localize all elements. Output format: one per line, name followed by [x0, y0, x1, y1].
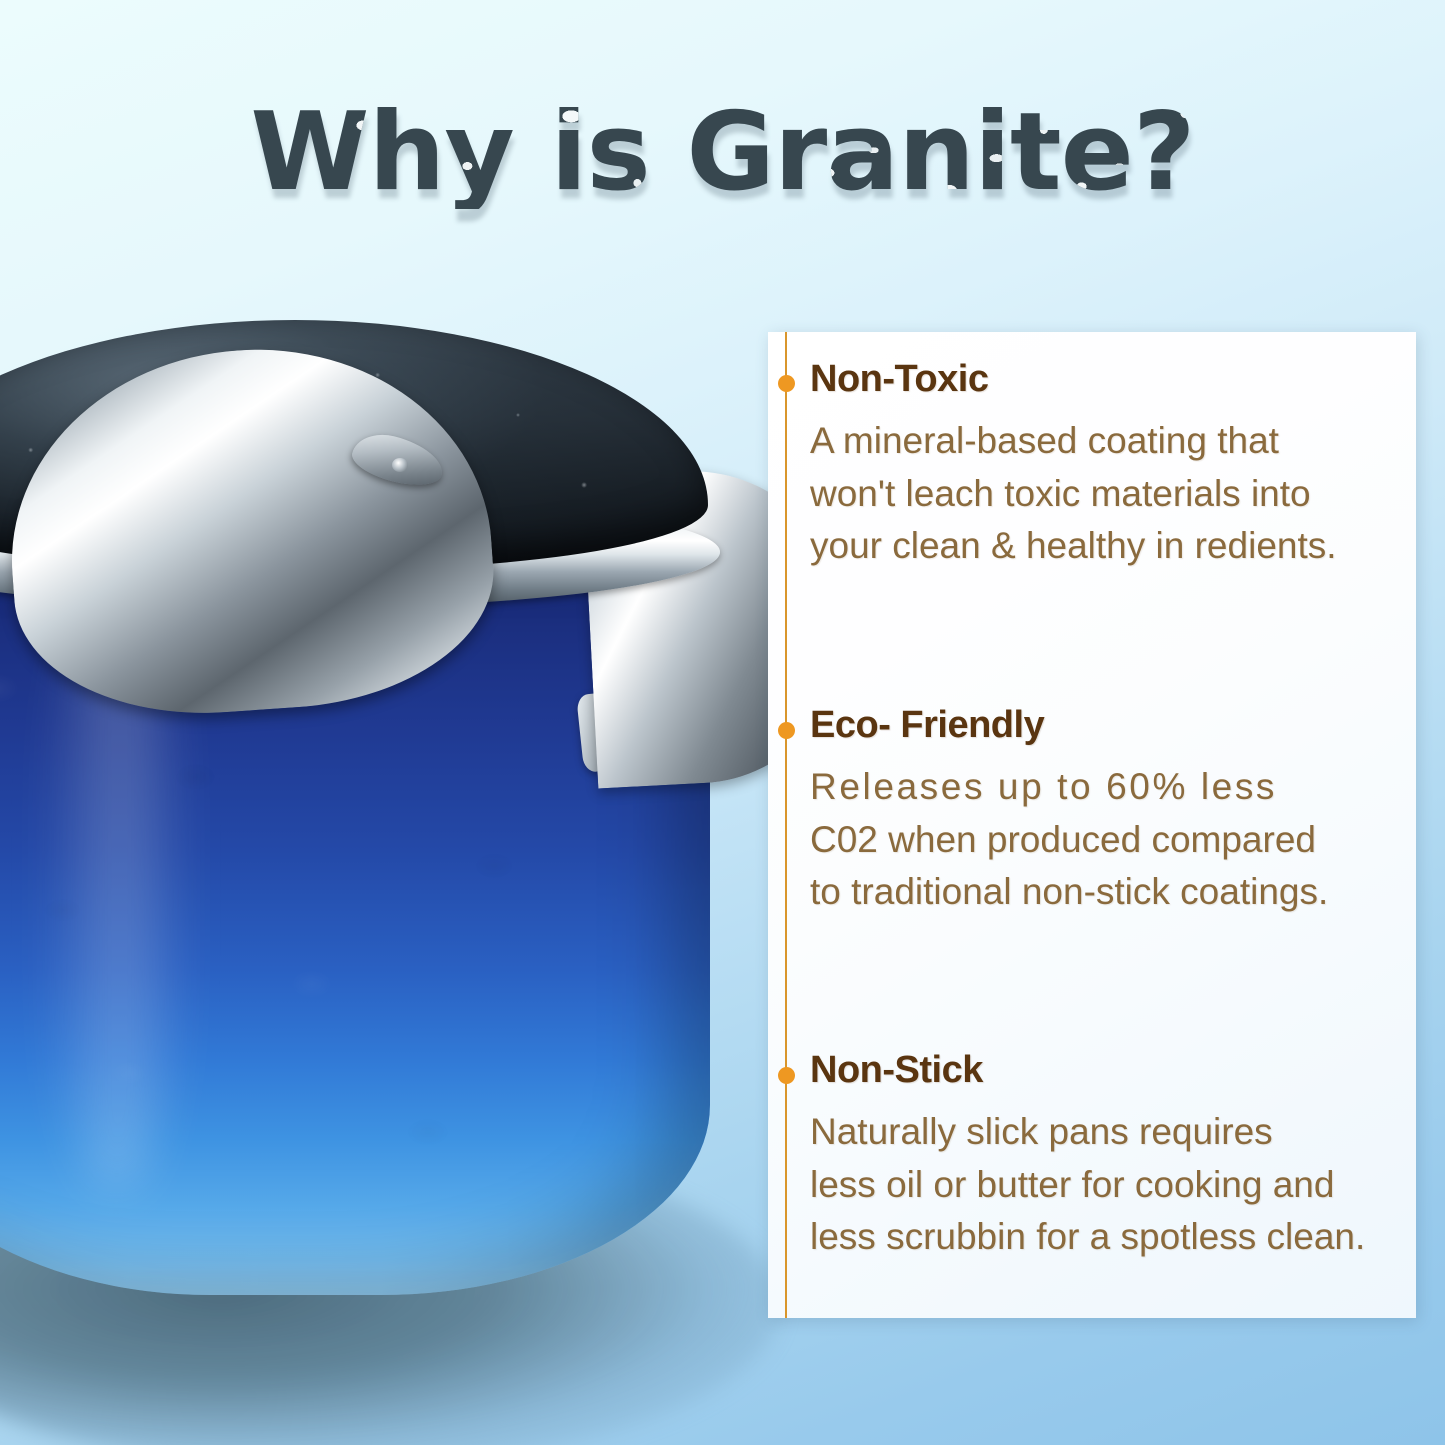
feature-line: your clean & healthy in redients.: [810, 520, 1400, 573]
rail-dot-icon-non-stick: [778, 1067, 795, 1084]
feature-line: less scrubbin for a spotless clean.: [810, 1211, 1400, 1264]
feature-title-eco-friendly: Eco- Friendly: [810, 704, 1400, 747]
feature-line: A mineral-based coating that: [810, 415, 1400, 468]
features-panel: Non-Toxic A mineral-based coating that w…: [768, 332, 1416, 1318]
feature-eco-friendly: Eco- Friendly Releases up to 60% less C0…: [810, 704, 1400, 919]
page-title-wrapper: Why is Granite? Why is Granite?: [0, 96, 1445, 209]
product-image-stock-pot: [0, 300, 820, 1400]
lid-handle-rivet-icon: [392, 458, 408, 472]
feature-title-non-stick: Non-Stick: [810, 1049, 1400, 1092]
feature-non-stick: Non-Stick Naturally slick pans requires …: [810, 1049, 1400, 1264]
feature-line: less oil or butter for cooking and: [810, 1159, 1400, 1212]
feature-body-non-stick: Naturally slick pans requires less oil o…: [810, 1106, 1400, 1264]
feature-body-non-toxic: A mineral-based coating that won't leach…: [810, 415, 1400, 573]
feature-line: to traditional non-stick coatings.: [810, 866, 1400, 919]
feature-line: C02 when produced compared: [810, 814, 1400, 867]
feature-non-toxic: Non-Toxic A mineral-based coating that w…: [810, 358, 1400, 573]
page-title: Why is Granite?: [250, 96, 1194, 209]
feature-line: Naturally slick pans requires: [810, 1106, 1400, 1159]
rail-dot-icon-eco-friendly: [778, 722, 795, 739]
infographic-canvas: Why is Granite? Why is Granite? Non-Toxi…: [0, 0, 1445, 1445]
feature-title-non-toxic: Non-Toxic: [810, 358, 1400, 401]
feature-line: Releases up to 60% less: [810, 761, 1400, 814]
rail-dot-icon-non-toxic: [778, 375, 795, 392]
feature-line: won't leach toxic materials into: [810, 468, 1400, 521]
timeline-rail: [785, 332, 787, 1318]
feature-body-eco-friendly: Releases up to 60% less C02 when produce…: [810, 761, 1400, 919]
